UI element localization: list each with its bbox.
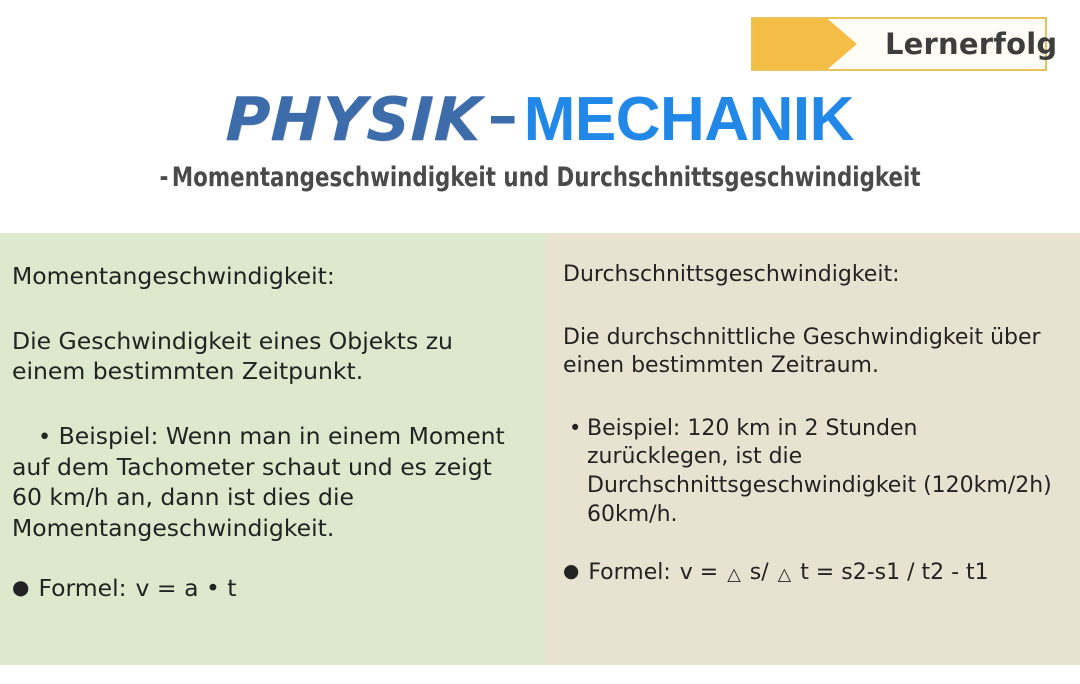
title-dash: – [482, 81, 524, 151]
formula-dot-icon: ● [12, 578, 29, 598]
left-formula-body: v = a • t [136, 573, 237, 604]
page-subtitle: -Momentangeschwindigkeit und Durchschnit… [65, 162, 1015, 193]
left-panel-formula: ● Formel: v = a • t [12, 573, 523, 604]
bullet-dot-icon: • [38, 424, 51, 450]
content-panels: Momentangeschwindigkeit: Die Geschwindig… [0, 233, 1080, 665]
left-panel-example-text: Beispiel: Wenn man in einem Moment auf d… [12, 422, 505, 542]
right-formula-label: Formel: [588, 559, 670, 588]
left-panel-example: • Beispiel: Wenn man in einem Moment auf… [12, 421, 523, 544]
header: Lernerfolg PHYSIK–MECHANIK -Momentangesc… [0, 0, 1080, 233]
right-panel-formula: ● Formel: v =△s/△t = s2-s1 / t2 - t1 [563, 559, 1060, 588]
right-panel-heading: Durchschnittsgeschwindigkeit: [563, 261, 1060, 290]
right-panel-example-text: Beispiel: 120 km in 2 Stunden zurücklege… [587, 416, 1052, 527]
badge-label: Lernerfolg [885, 27, 1057, 61]
delta-triangle-icon: △ [778, 564, 792, 587]
left-formula-label: Formel: [38, 573, 126, 604]
left-panel-definition: Die Geschwindigkeit eines Objekts zu ein… [12, 326, 523, 387]
page-title: PHYSIK–MECHANIK [0, 84, 1080, 155]
bullet-dot-icon: • [569, 415, 581, 442]
footer-strip [0, 665, 1080, 684]
panel-momentangeschwindigkeit: Momentangeschwindigkeit: Die Geschwindig… [0, 233, 545, 665]
right-formula-mid1: s/ [750, 559, 769, 588]
panel-durchschnittsgeschwindigkeit: Durchschnittsgeschwindigkeit: Die durchs… [545, 233, 1080, 665]
delta-triangle-icon: △ [727, 564, 741, 587]
right-panel-example: •Beispiel: 120 km in 2 Stunden zurückleg… [563, 415, 1060, 529]
right-panel-definition: Die durchschnittliche Geschwindigkeit üb… [563, 324, 1060, 381]
formula-dot-icon: ● [563, 563, 579, 582]
subtitle-text: Momentangeschwindigkeit und Durchschnitt… [172, 162, 921, 193]
title-part-physik: PHYSIK [225, 85, 483, 155]
badge-arrow-icon [753, 19, 857, 69]
right-formula-prefix: v = [680, 559, 718, 588]
right-formula-mid2: t = s2-s1 / t2 - t1 [800, 559, 988, 588]
subtitle-dash: - [159, 162, 168, 193]
title-part-mechanik: MECHANIK [524, 84, 854, 155]
left-panel-heading: Momentangeschwindigkeit: [12, 261, 523, 292]
lernerfolg-badge: Lernerfolg [751, 17, 1047, 71]
